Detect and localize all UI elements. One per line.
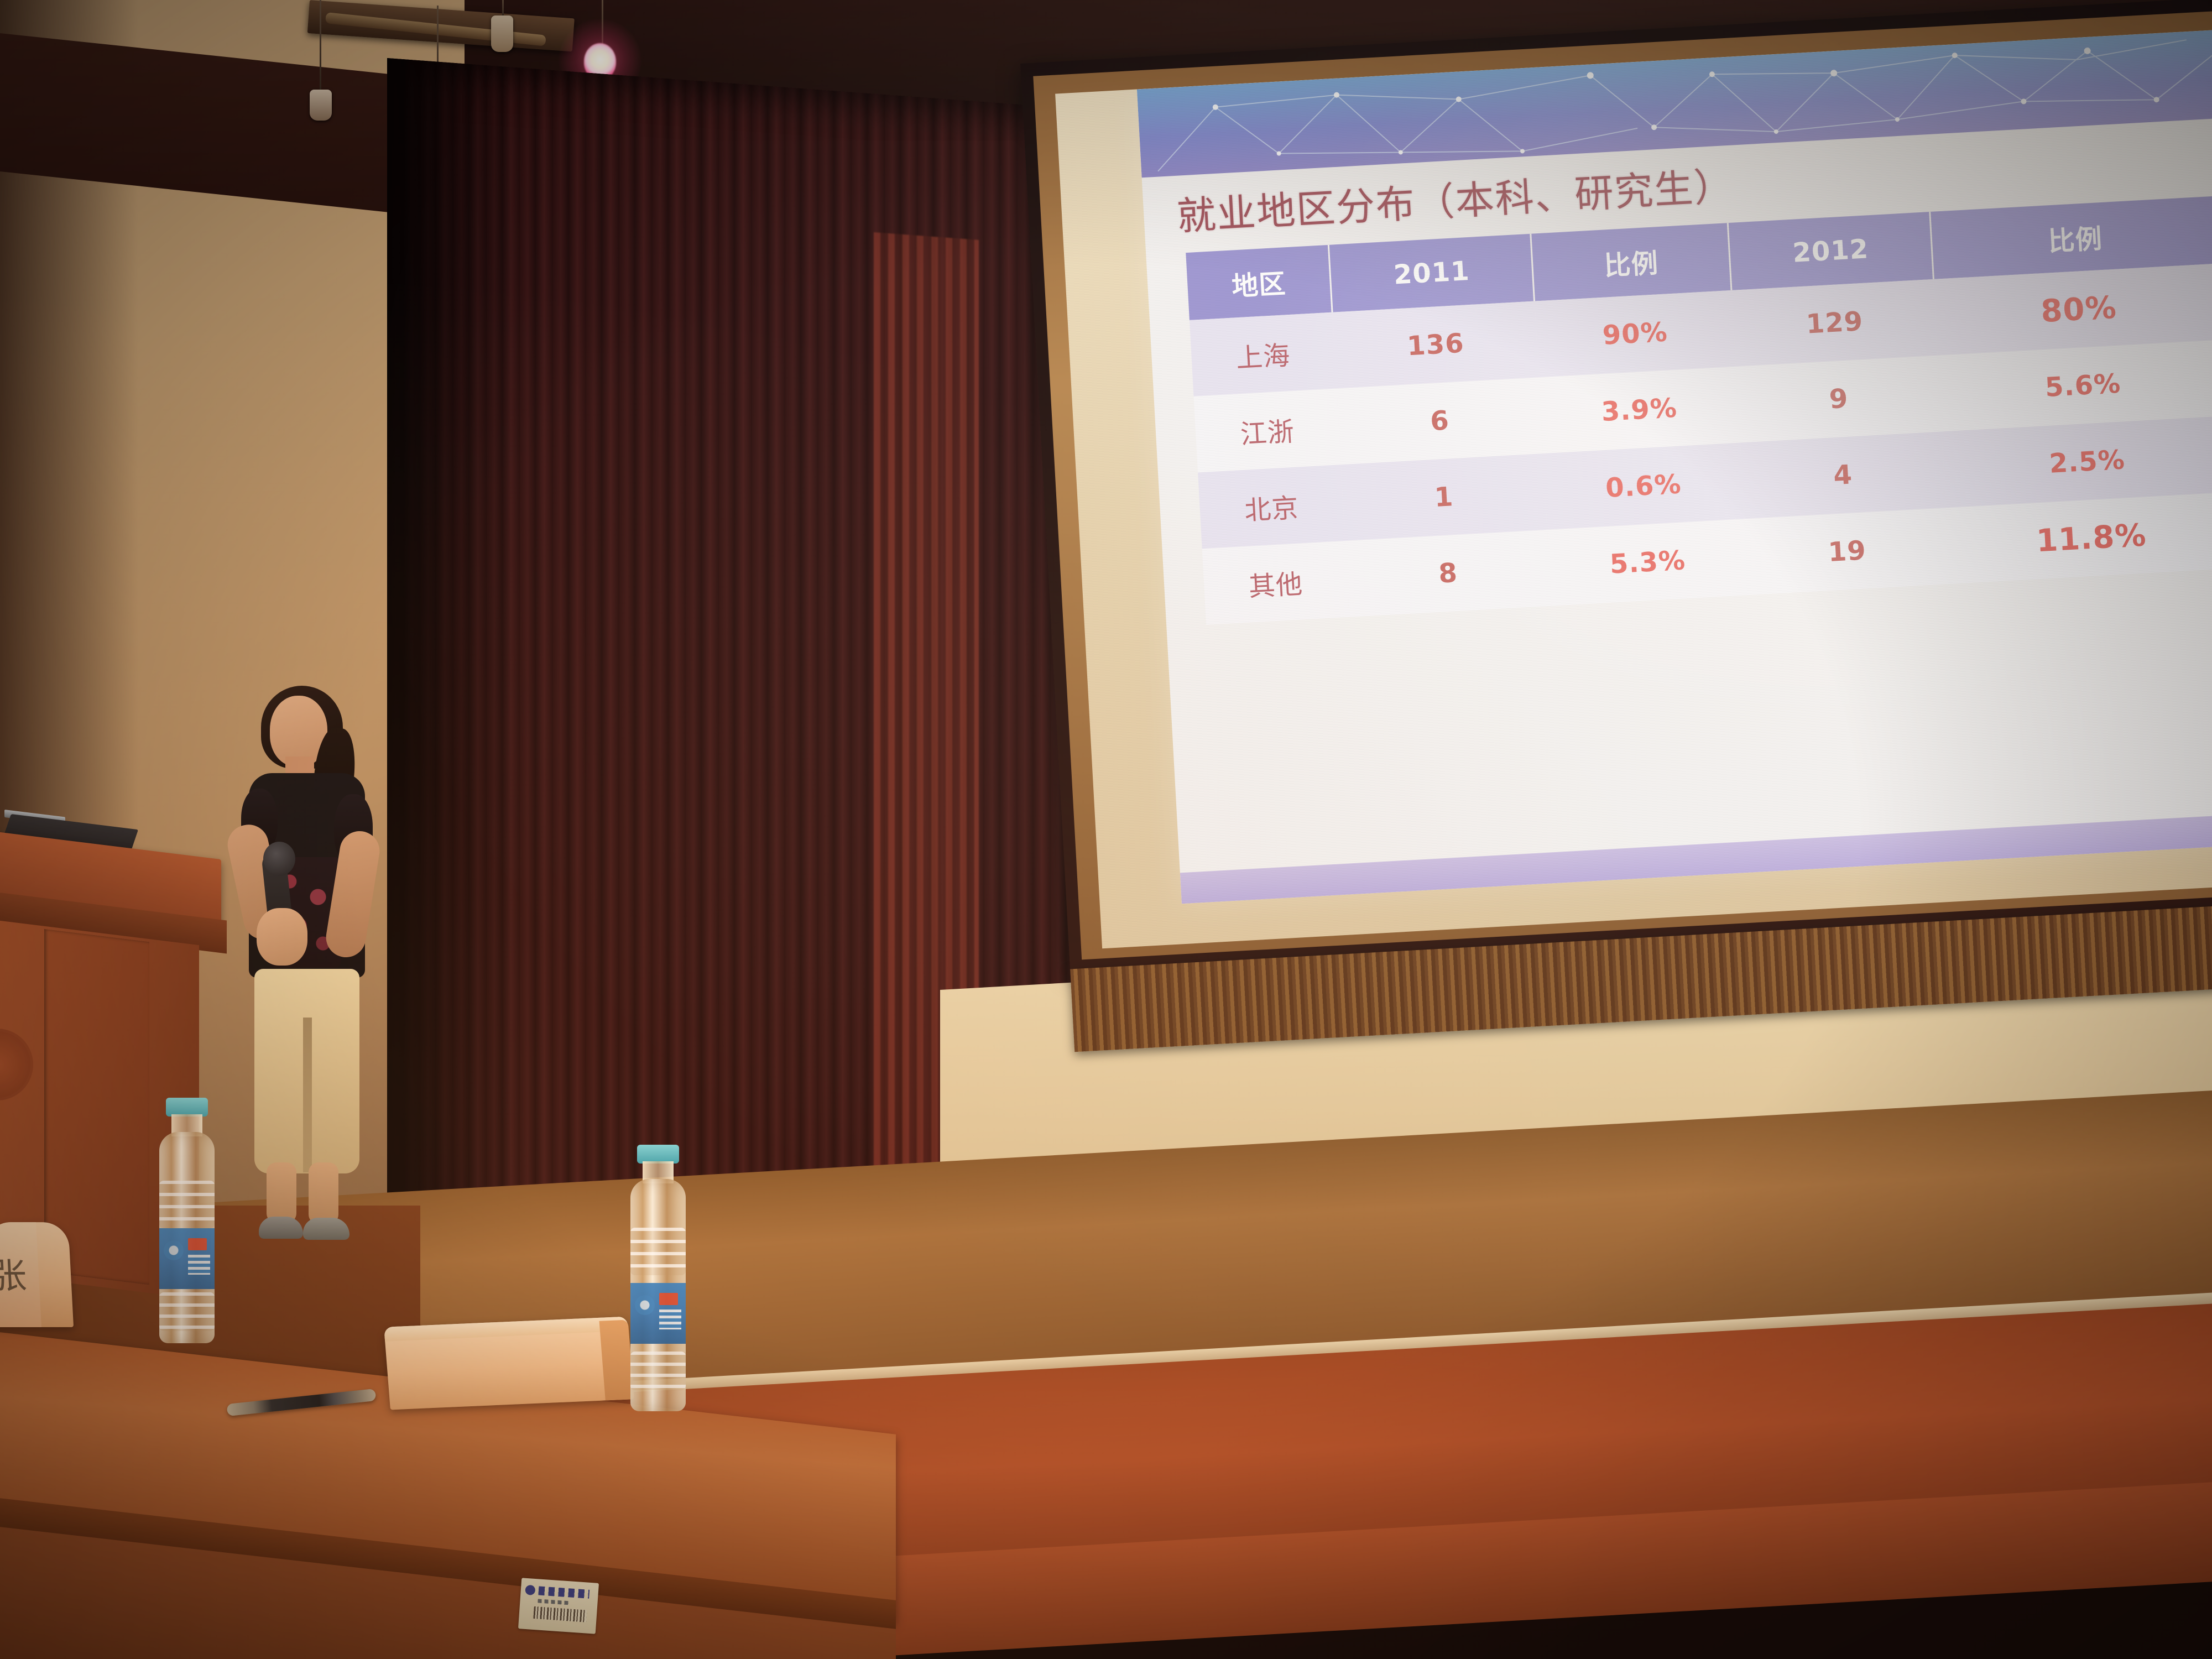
bottle-grip-rings-lower	[630, 1352, 686, 1390]
presenter-shoe-right	[303, 1218, 349, 1240]
presenter-hand	[257, 908, 307, 966]
bottle-label-accent	[659, 1293, 678, 1305]
cell-region: 上海	[1190, 312, 1337, 397]
bottle-grip-rings-lower	[159, 1292, 215, 1331]
asset-tag-logo-icon	[525, 1585, 535, 1595]
tent-card-left[interactable]: 张	[0, 1222, 74, 1327]
cell-2012: 19	[1744, 508, 1950, 595]
cell-2011: 136	[1332, 301, 1538, 389]
microphone-icon	[263, 842, 295, 876]
bottle-label	[159, 1228, 215, 1289]
projection-screen: 就业地区分布（本科、研究生） 地区 2011 比例 2012 比例	[1020, 0, 2212, 1057]
lecture-hall-scene: 就业地区分布（本科、研究生） 地区 2011 比例 2012 比例	[0, 0, 2212, 1659]
cell-pct-2012: 80%	[1933, 263, 2212, 355]
projected-slide: 就业地区分布（本科、研究生） 地区 2011 比例 2012 比例	[1137, 29, 2212, 904]
cell-pct-2012: 11.8%	[1946, 492, 2212, 584]
tent-card-middle[interactable]	[384, 1317, 634, 1410]
cell-2011: 1	[1341, 453, 1547, 541]
asset-tag-label	[518, 1578, 599, 1634]
cell-2012: 4	[1740, 431, 1946, 519]
bottle-brand-icon	[164, 1240, 184, 1260]
bottle-label-text	[188, 1255, 210, 1275]
asset-tag-title	[538, 1586, 589, 1598]
cell-2011: 8	[1345, 530, 1551, 617]
cell-pct-2012: 2.5%	[1942, 416, 2212, 508]
cell-pct-2011: 90%	[1535, 290, 1736, 377]
bottle-label-accent	[188, 1238, 207, 1250]
cell-pct-2011: 0.6%	[1543, 443, 1744, 530]
bottle-cap	[166, 1098, 208, 1117]
cell-2011: 6	[1337, 377, 1543, 465]
cell-region: 北京	[1198, 465, 1345, 549]
bottle-label	[630, 1283, 686, 1344]
tent-card-left-label: 张	[0, 1248, 28, 1298]
cell-2012: 129	[1731, 279, 1938, 367]
col-header-2012: 2012	[1728, 212, 1933, 290]
screen-surface: 就业地区分布（本科、研究生） 地区 2011 比例 2012 比例	[1055, 29, 2212, 949]
stage-curtain-shadow	[387, 58, 520, 1268]
col-header-pct-2011: 比例	[1531, 223, 1731, 301]
cell-region: 江浙	[1194, 388, 1341, 472]
presenter-pants-crease	[303, 1018, 312, 1172]
cell-region: 其他	[1202, 541, 1349, 625]
track-light-dim	[491, 15, 513, 52]
bottle-cap	[637, 1145, 679, 1164]
bottle-brand-icon	[635, 1295, 655, 1315]
employment-region-table: 地区 2011 比例 2012 比例 上海 136 90% 129	[1186, 196, 2212, 625]
col-header-2011: 2011	[1329, 234, 1535, 312]
presenter-leg-right	[309, 1162, 338, 1224]
slide-footer-band	[1180, 812, 2212, 904]
track-light-off-left	[310, 90, 332, 121]
cell-pct-2011: 5.3%	[1547, 519, 1749, 606]
asset-tag-barcode-icon	[533, 1606, 587, 1623]
water-bottle-middle[interactable]	[637, 1145, 692, 1421]
track-light-wire-1	[320, 0, 321, 93]
bottle-grip-rings-upper	[159, 1181, 215, 1228]
cell-pct-2012: 5.6%	[1938, 340, 2212, 431]
water-bottle-left[interactable]	[166, 1098, 221, 1352]
bottle-label-text	[659, 1310, 681, 1329]
presenter-shoe-left	[259, 1217, 303, 1239]
cell-2012: 9	[1736, 356, 1942, 443]
presenter-leg-left	[267, 1162, 296, 1223]
bottle-grip-rings-upper	[630, 1228, 686, 1275]
cell-pct-2011: 3.9%	[1538, 367, 1740, 453]
col-header-region: 地区	[1186, 245, 1332, 320]
asset-tag-subtitle	[538, 1599, 568, 1605]
